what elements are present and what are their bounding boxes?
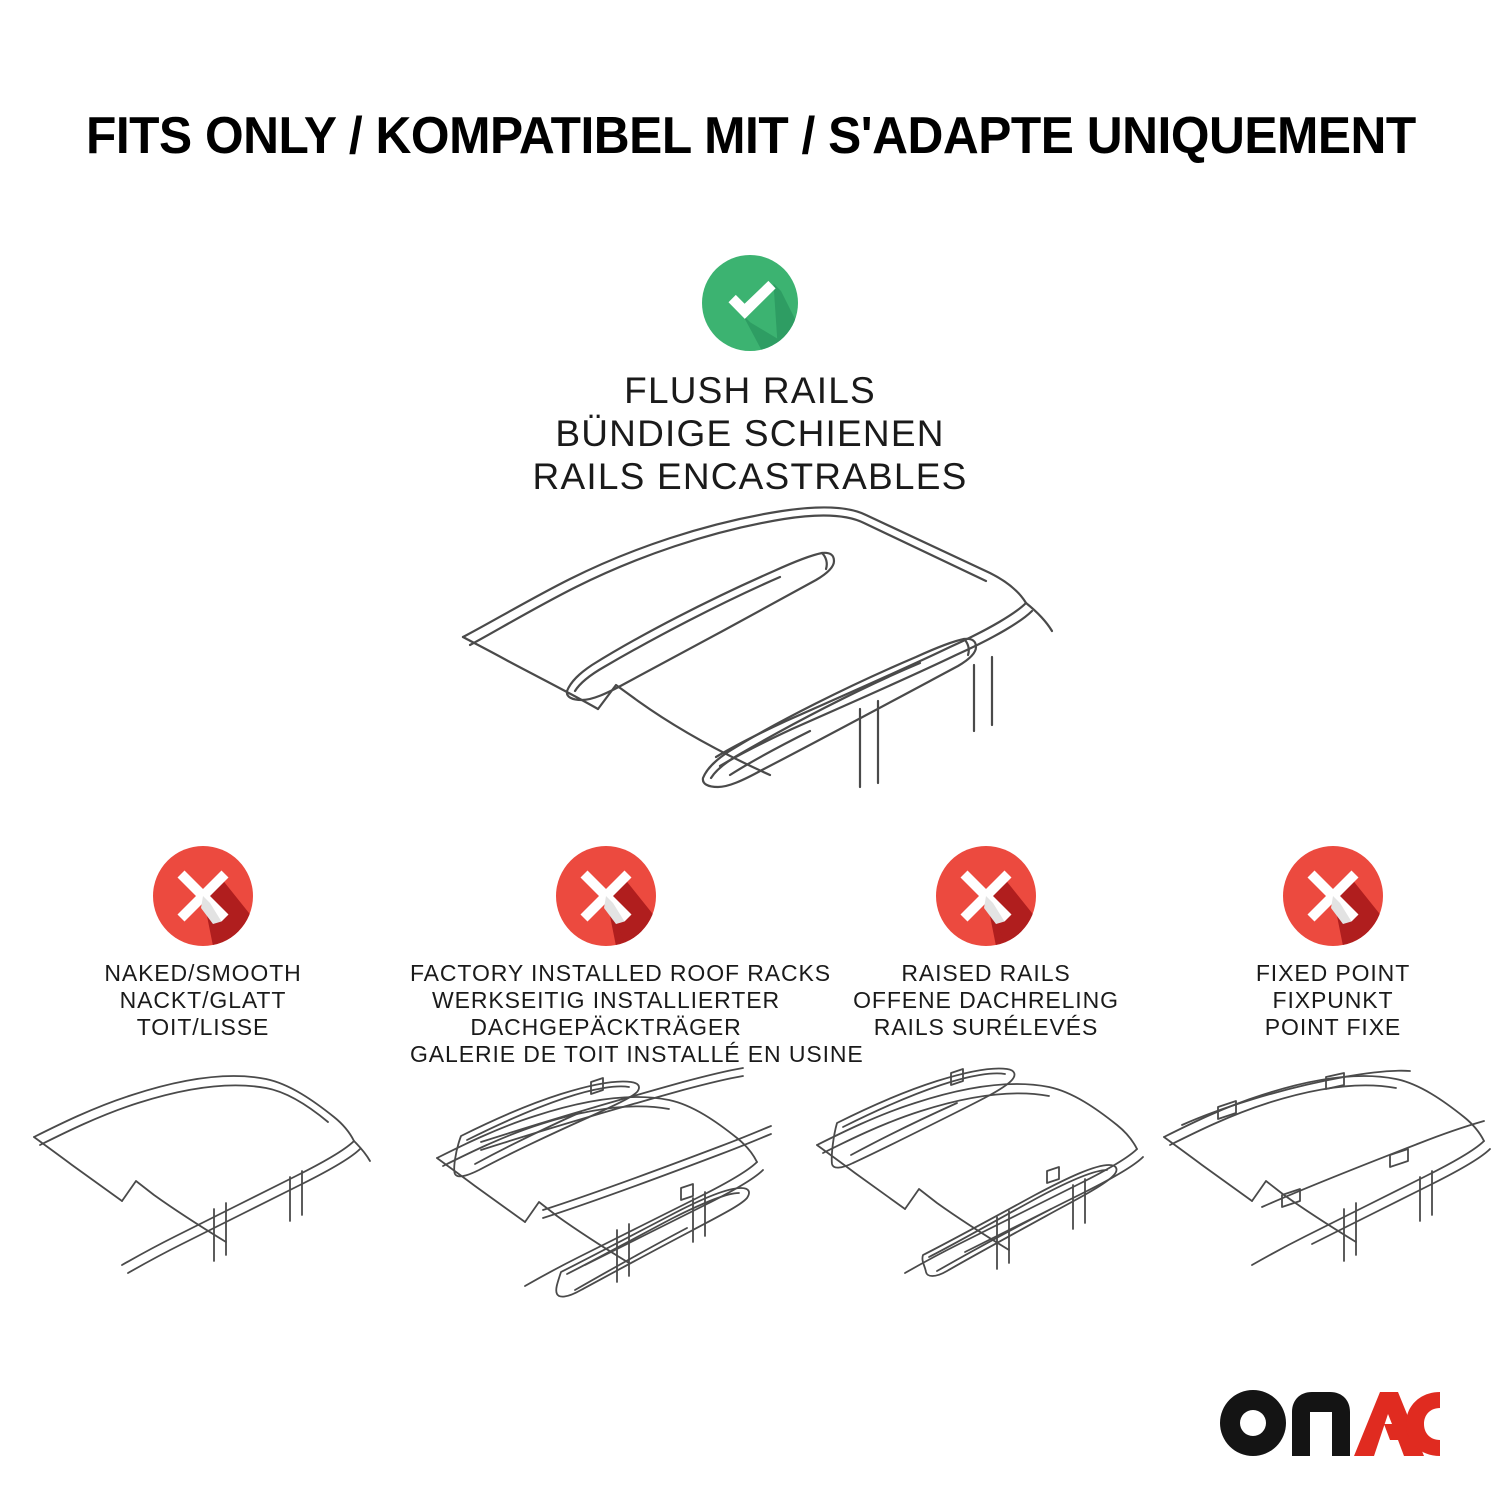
label-line-de-1: WERKSEITIG INSTALLIERTER xyxy=(410,987,802,1014)
red-x-circle-icon xyxy=(936,846,1036,946)
label-line-de: OFFENE DACHRELING xyxy=(812,987,1160,1014)
car-roof-raised-rails-icon xyxy=(812,1059,1160,1289)
label-line-en: FIXED POINT xyxy=(1172,960,1494,987)
label-line-en: NAKED/SMOOTH xyxy=(14,960,392,987)
car-roof-naked-icon xyxy=(14,1059,392,1289)
compatible-label-line-de: BÜNDIGE SCHIENEN xyxy=(0,412,1500,455)
incompatible-item-naked: NAKED/SMOOTH NACKT/GLATT TOIT/LISSE xyxy=(0,846,406,1289)
logo-letter-o xyxy=(1220,1390,1286,1456)
red-x-circle-icon xyxy=(556,846,656,946)
incompatible-label-factory-rack: FACTORY INSTALLED ROOF RACKS WERKSEITIG … xyxy=(410,960,802,1068)
incompatible-label-fixed-point: FIXED POINT FIXPUNKT POINT FIXE xyxy=(1172,960,1494,1041)
page-title: FITS ONLY / KOMPATIBEL MIT / S'ADAPTE UN… xyxy=(86,108,1416,164)
incompatible-label-raised-rails: RAISED RAILS OFFENE DACHRELING RAILS SUR… xyxy=(812,960,1160,1041)
compatible-label: FLUSH RAILS BÜNDIGE SCHIENEN RAILS ENCAS… xyxy=(0,369,1500,498)
red-x-circle-icon xyxy=(153,846,253,946)
label-line-fr: POINT FIXE xyxy=(1172,1014,1494,1041)
label-line-de-2: DACHGEPÄCKTRÄGER xyxy=(410,1014,802,1041)
compatible-label-line-fr: RAILS ENCASTRABLES xyxy=(0,455,1500,498)
incompatible-section: NAKED/SMOOTH NACKT/GLATT TOIT/LISSE xyxy=(0,846,1500,1290)
compatible-label-line-en: FLUSH RAILS xyxy=(0,369,1500,412)
red-x-circle-icon xyxy=(1283,846,1383,946)
label-line-de: FIXPUNKT xyxy=(1172,987,1494,1014)
car-roof-fixed-point-icon xyxy=(1172,1059,1494,1289)
incompatible-item-factory-rack: FACTORY INSTALLED ROOF RACKS WERKSEITIG … xyxy=(406,846,806,1290)
incompatible-item-fixed-point: FIXED POINT FIXPUNKT POINT FIXE xyxy=(1166,846,1500,1289)
compatible-section: FLUSH RAILS BÜNDIGE SCHIENEN RAILS ENCAS… xyxy=(0,255,1500,498)
omac-logo xyxy=(1220,1390,1440,1456)
car-roof-factory-rack-icon xyxy=(410,1060,802,1290)
label-line-en: FACTORY INSTALLED ROOF RACKS xyxy=(410,960,802,987)
car-roof-flush-rails-icon xyxy=(430,495,1070,795)
incompatible-item-raised-rails: RAISED RAILS OFFENE DACHRELING RAILS SUR… xyxy=(806,846,1166,1289)
green-check-circle-icon xyxy=(702,255,798,351)
label-line-fr: RAILS SURÉLEVÉS xyxy=(812,1014,1160,1041)
label-line-en: RAISED RAILS xyxy=(812,960,1160,987)
logo-letter-m xyxy=(1292,1392,1350,1456)
label-line-fr: TOIT/LISSE xyxy=(14,1014,392,1041)
label-line-de: NACKT/GLATT xyxy=(14,987,392,1014)
incompatible-label-naked: NAKED/SMOOTH NACKT/GLATT TOIT/LISSE xyxy=(14,960,392,1041)
